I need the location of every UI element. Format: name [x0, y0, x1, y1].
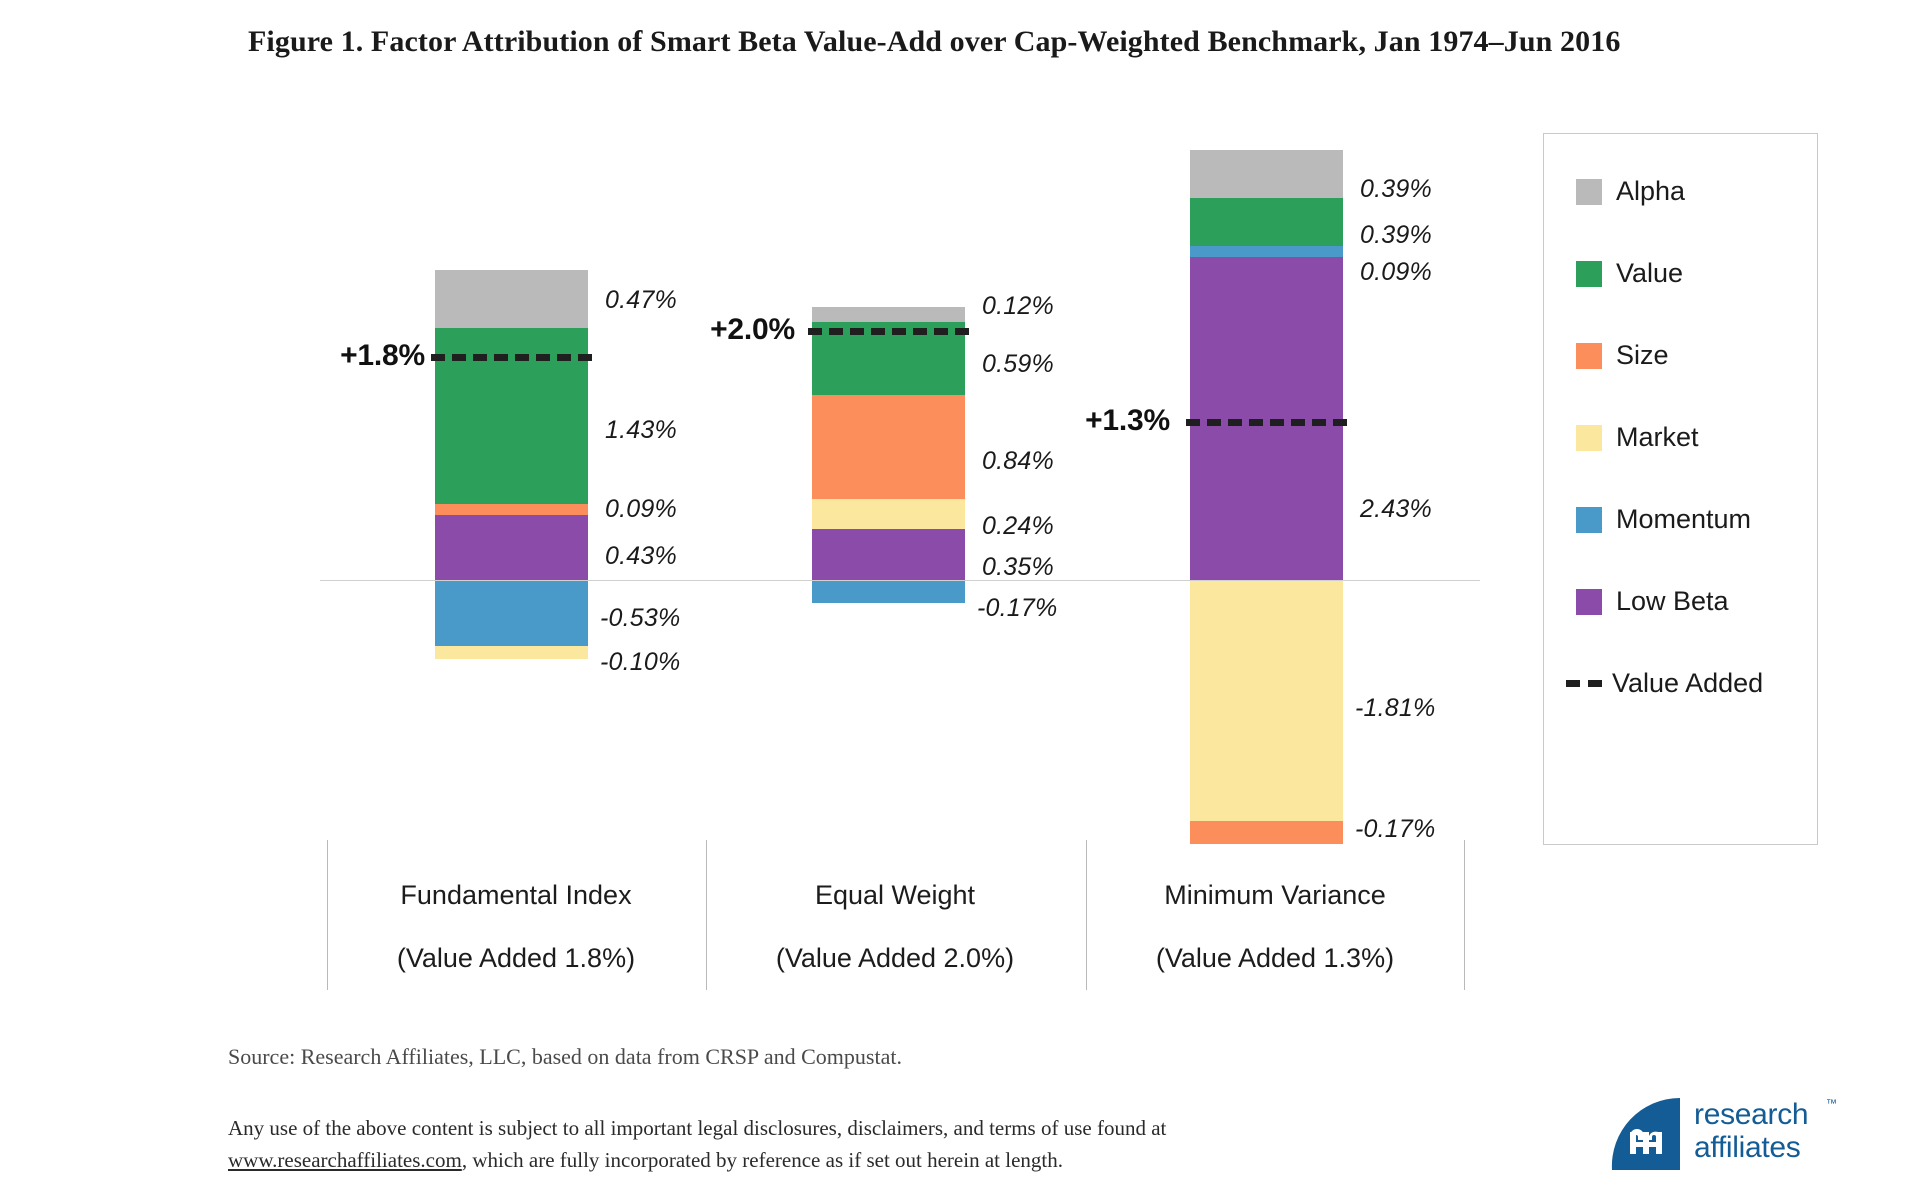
- bar-segment-alpha: [1190, 150, 1343, 198]
- legend-item-momentum[interactable]: Momentum: [1576, 504, 1751, 535]
- bar-segment-market: [435, 646, 588, 659]
- legend-label: Market: [1616, 422, 1699, 453]
- chart-legend: Alpha Value Size Market Momentum Low Bet…: [1543, 133, 1818, 845]
- bar-segment-momentum: [812, 581, 965, 603]
- legend-label: Alpha: [1616, 176, 1685, 207]
- legend-label: Momentum: [1616, 504, 1751, 535]
- legend-swatch-momentum: [1576, 507, 1602, 533]
- category-subtext: (Value Added 2.0%): [745, 927, 1045, 990]
- value-label-low-beta-bar2: 0.35%: [982, 553, 1054, 582]
- value-label-value-bar2: 0.59%: [982, 350, 1054, 379]
- bar-segment-size: [435, 504, 588, 515]
- category-subtext: (Value Added 1.3%): [1125, 927, 1425, 990]
- total-label-fundamental-index: +1.8%: [255, 339, 425, 373]
- bar-segment-market: [1190, 581, 1343, 821]
- value-label-momentum-bar2: -0.17%: [977, 594, 1057, 623]
- value-label-low-beta-bar3: 2.43%: [1360, 495, 1432, 524]
- disclaimer-note: Any use of the above content is subject …: [228, 1112, 1408, 1176]
- legend-item-market[interactable]: Market: [1576, 422, 1699, 453]
- legend-label: Value: [1616, 258, 1683, 289]
- value-label-alpha-bar2: 0.12%: [982, 292, 1054, 321]
- value-label-market-bar3: -1.81%: [1355, 694, 1435, 723]
- category-name: Minimum Variance: [1164, 880, 1386, 910]
- value-label-size-bar3: -0.17%: [1355, 815, 1435, 844]
- legend-item-size[interactable]: Size: [1576, 340, 1669, 371]
- source-note: Source: Research Affiliates, LLC, based …: [228, 1044, 902, 1070]
- value-label-alpha-bar3: 0.39%: [1360, 175, 1432, 204]
- logo-mark-icon: [1610, 1096, 1682, 1172]
- research-affiliates-link[interactable]: www.researchaffiliates.com: [228, 1148, 462, 1172]
- category-label-equal-weight: Equal Weight (Value Added 2.0%): [745, 864, 1045, 990]
- bar-segment-low-beta: [812, 529, 965, 580]
- category-name: Equal Weight: [815, 880, 975, 910]
- legend-label: Value Added: [1612, 668, 1763, 699]
- category-label-minimum-variance: Minimum Variance (Value Added 1.3%): [1125, 864, 1425, 990]
- bar-segment-alpha: [812, 307, 965, 322]
- bar-segment-size: [812, 395, 965, 499]
- total-label-minimum-variance: +1.3%: [1010, 404, 1170, 438]
- research-affiliates-logo: research affiliates ™: [1610, 1092, 1860, 1180]
- value-label-value-bar3: 0.39%: [1360, 221, 1432, 250]
- logo-line-1: research: [1694, 1098, 1808, 1131]
- value-label-size-bar1: 0.09%: [605, 495, 677, 524]
- legend-swatch-low-beta: [1576, 589, 1602, 615]
- category-separator: [706, 840, 707, 990]
- category-separator: [1086, 840, 1087, 990]
- bar-segment-momentum: [435, 581, 588, 646]
- legend-swatch-market: [1576, 425, 1602, 451]
- category-separator: [327, 840, 328, 990]
- legend-swatch-size: [1576, 343, 1602, 369]
- value-label-market-bar1: -0.10%: [600, 648, 680, 677]
- dashed-line-icon: [1566, 680, 1602, 687]
- value-label-momentum-bar3: 0.09%: [1360, 258, 1432, 287]
- value-label-low-beta-bar1: 0.43%: [605, 542, 677, 571]
- value-label-size-bar2: 0.84%: [982, 447, 1054, 476]
- legend-item-alpha[interactable]: Alpha: [1576, 176, 1685, 207]
- bar-segment-market: [812, 499, 965, 529]
- total-label-equal-weight: +2.0%: [640, 313, 795, 347]
- legend-swatch-value: [1576, 261, 1602, 287]
- value-added-line: [808, 328, 969, 335]
- legend-item-value-added[interactable]: Value Added: [1566, 668, 1763, 699]
- value-added-line: [1186, 419, 1347, 426]
- legend-item-value[interactable]: Value: [1576, 258, 1683, 289]
- bar-segment-momentum: [1190, 246, 1343, 257]
- value-added-line: [431, 354, 592, 361]
- legend-item-low-beta[interactable]: Low Beta: [1576, 586, 1729, 617]
- category-subtext: (Value Added 1.8%): [366, 927, 666, 990]
- category-separator: [1464, 840, 1465, 990]
- value-label-market-bar2: 0.24%: [982, 512, 1054, 541]
- bar-segment-alpha: [435, 270, 588, 328]
- legend-swatch-alpha: [1576, 179, 1602, 205]
- value-label-momentum-bar1: -0.53%: [600, 604, 680, 633]
- value-label-alpha-bar1: 0.47%: [605, 286, 677, 315]
- category-label-fundamental-index: Fundamental Index (Value Added 1.8%): [366, 864, 666, 990]
- bar-segment-low-beta: [435, 515, 588, 580]
- category-name: Fundamental Index: [400, 880, 631, 910]
- disclaimer-text-part2: , which are fully incorporated by refere…: [462, 1148, 1063, 1172]
- bar-segment-size: [1190, 821, 1343, 844]
- logo-line-2: affiliates: [1694, 1131, 1808, 1164]
- legend-label: Size: [1616, 340, 1669, 371]
- value-label-value-bar1: 1.43%: [605, 416, 677, 445]
- legend-label: Low Beta: [1616, 586, 1729, 617]
- bar-segment-value: [1190, 198, 1343, 246]
- logo-trademark: ™: [1826, 1098, 1837, 1110]
- logo-wordmark: research affiliates: [1694, 1098, 1808, 1164]
- disclaimer-text-part1: Any use of the above content is subject …: [228, 1116, 1166, 1140]
